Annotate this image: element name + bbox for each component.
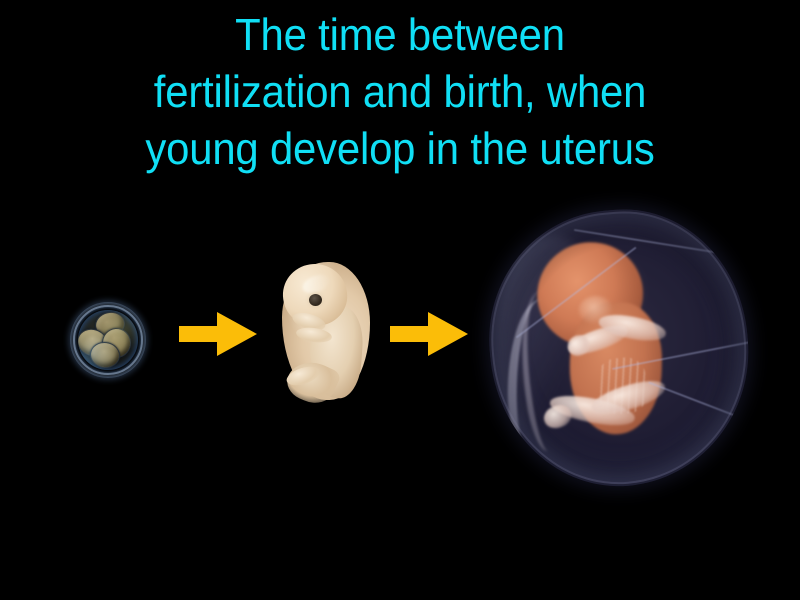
arrow-shaft [179, 326, 221, 342]
right-arrow-icon [179, 312, 257, 356]
amniotic-sac [478, 199, 759, 496]
page-title: The time between fertilization and birth… [28, 6, 772, 177]
embryo-image [276, 258, 376, 404]
embryo-eye [309, 294, 322, 306]
definition-card: The time between fertilization and birth… [0, 0, 800, 600]
blastomere-cluster [78, 310, 138, 370]
caption-line-3: young develop in the uterus [28, 120, 772, 177]
arrow-head [217, 312, 257, 356]
development-sequence [0, 190, 800, 520]
right-arrow-icon [390, 312, 468, 356]
zygote-four-cell-image [70, 302, 146, 378]
caption-line-2: fertilization and birth, when [28, 63, 772, 120]
fetus-in-amniotic-sac-image [486, 204, 752, 490]
caption-line-1: The time between [28, 6, 772, 63]
arrow-head [428, 312, 468, 356]
sac-membrane-rim [481, 201, 758, 494]
arrow-shaft [390, 326, 432, 342]
